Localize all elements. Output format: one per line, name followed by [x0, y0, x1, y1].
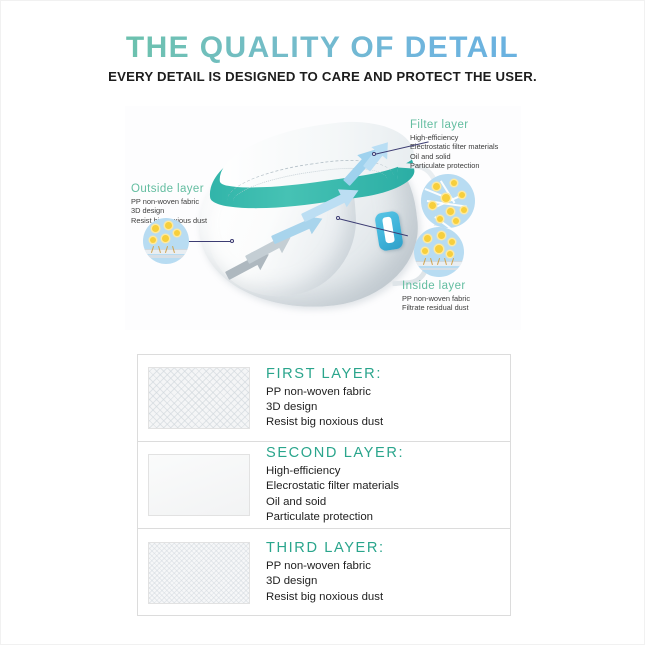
leader-dot-filter	[372, 152, 376, 156]
table-row: FIRST LAYER: PP non-woven fabric 3D desi…	[138, 355, 510, 442]
row-line: 3D design	[266, 400, 500, 415]
table-row: THIRD LAYER: PP non-woven fabric 3D desi…	[138, 529, 510, 616]
callout-line: Electrostatic filter materials	[410, 142, 498, 151]
row-line: PP non-woven fabric	[266, 559, 500, 574]
row-line: Particulate protection	[266, 510, 500, 525]
outside-fabric-particles-icon	[143, 218, 189, 264]
callout-title: Inside layer	[402, 280, 470, 292]
mesh-fabric-swatch	[148, 367, 250, 429]
callout-line: Filtrate residual dust	[402, 303, 470, 312]
row-line: 3D design	[266, 574, 500, 589]
row-line: Resist big noxious dust	[266, 415, 500, 430]
callout-line: High-efficiency	[410, 133, 498, 142]
row-line: Resist big noxious dust	[266, 590, 500, 605]
leader-dot-inside	[336, 216, 340, 220]
row-title: THIRD LAYER:	[266, 540, 500, 556]
callout-line: Particulate protection	[410, 161, 498, 170]
fine-mesh-fabric-swatch	[148, 542, 250, 604]
callout-title: Outside layer	[131, 183, 207, 195]
row-line: Elecrostatic filter materials	[266, 479, 500, 494]
row-text: THIRD LAYER: PP non-woven fabric 3D desi…	[266, 540, 500, 605]
callout-line: 3D design	[131, 206, 207, 215]
row-title: SECOND LAYER:	[266, 445, 500, 461]
row-line: PP non-woven fabric	[266, 385, 500, 400]
page-subtitle: EVERY DETAIL IS DESIGNED TO CARE AND PRO…	[1, 69, 644, 84]
row-text: FIRST LAYER: PP non-woven fabric 3D desi…	[266, 366, 500, 431]
page-title: THE QUALITY OF DETAIL	[1, 31, 644, 65]
plain-filter-swatch	[148, 454, 250, 516]
leader-line-outside	[188, 241, 234, 242]
mask-diagram-panel: Filter layer High-efficiency Electrostat…	[125, 106, 521, 330]
row-line: Oil and soid	[266, 495, 500, 510]
callout-title: Filter layer	[410, 119, 498, 131]
row-line: High-efficiency	[266, 464, 500, 479]
layers-table: FIRST LAYER: PP non-woven fabric 3D desi…	[137, 354, 511, 616]
filter-fiber-particles-icon	[421, 174, 475, 228]
callout-line: PP non-woven fabric	[402, 294, 470, 303]
callout-line: Oil and solid	[410, 152, 498, 161]
table-row: SECOND LAYER: High-efficiency Elecrostat…	[138, 442, 510, 529]
row-title: FIRST LAYER:	[266, 366, 500, 382]
row-text: SECOND LAYER: High-efficiency Elecrostat…	[266, 445, 500, 525]
infographic-page: THE QUALITY OF DETAIL EVERY DETAIL IS DE…	[0, 0, 645, 645]
callout-filter-layer: Filter layer High-efficiency Electrostat…	[410, 119, 498, 171]
callout-inside-layer: Inside layer PP non-woven fabric Filtrat…	[402, 280, 470, 313]
inside-fabric-particles-icon	[414, 227, 464, 277]
leader-dot-outside	[230, 239, 234, 243]
callout-line: PP non-woven fabric	[131, 197, 207, 206]
